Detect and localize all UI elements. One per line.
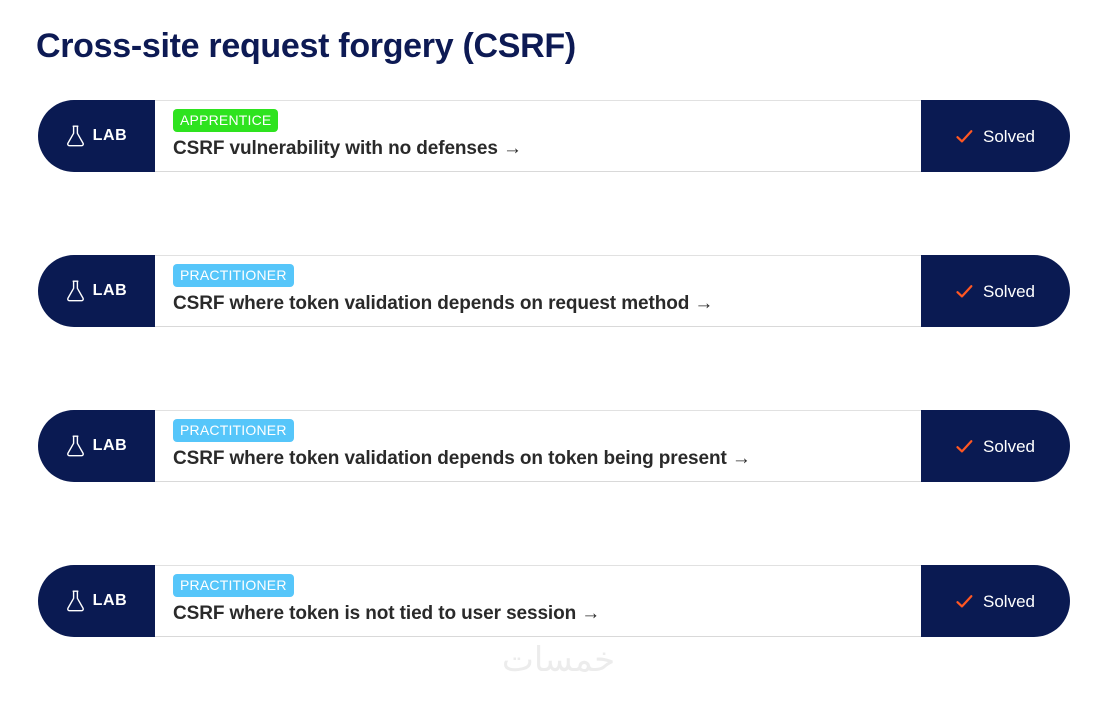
lab-card[interactable]: LAB PRACTITIONER CSRF where token is not… [38,565,1070,637]
difficulty-badge: PRACTITIONER [173,574,294,597]
flask-icon [66,280,85,302]
lab-card[interactable]: LAB APPRENTICE CSRF vulnerability with n… [38,100,1070,172]
lab-status: Solved [921,565,1070,637]
flask-icon [66,435,85,457]
page-title: Cross-site request forgery (CSRF) [36,25,576,67]
difficulty-badge: PRACTITIONER [173,419,294,442]
lab-status: Solved [921,100,1070,172]
difficulty-badge: PRACTITIONER [173,264,294,287]
flask-icon [66,125,85,147]
check-icon [956,284,973,299]
lab-body: PRACTITIONER CSRF where token validation… [155,255,921,327]
check-icon [956,129,973,144]
check-icon [956,439,973,454]
lab-card[interactable]: LAB PRACTITIONER CSRF where token valida… [38,410,1070,482]
check-icon [956,594,973,609]
lab-badge: LAB [38,100,155,172]
lab-card[interactable]: LAB PRACTITIONER CSRF where token valida… [38,255,1070,327]
lab-title-link[interactable]: CSRF where token validation depends on r… [173,292,921,316]
lab-title-link[interactable]: CSRF where token is not tied to user ses… [173,602,921,626]
lab-badge: LAB [38,565,155,637]
lab-badge-label: LAB [93,438,128,454]
watermark: خمسات [0,640,1117,680]
status-label: Solved [983,593,1035,610]
lab-body: APPRENTICE CSRF vulnerability with no de… [155,100,921,172]
flask-icon [66,590,85,612]
lab-badge-label: LAB [93,128,128,144]
difficulty-badge: APPRENTICE [173,109,278,132]
lab-body: PRACTITIONER CSRF where token validation… [155,410,921,482]
lab-title-link[interactable]: CSRF vulnerability with no defenses → [173,137,921,161]
lab-title-link[interactable]: CSRF where token validation depends on t… [173,447,921,471]
status-label: Solved [983,128,1035,145]
lab-status: Solved [921,410,1070,482]
status-label: Solved [983,283,1035,300]
lab-badge-label: LAB [93,283,128,299]
lab-badge: LAB [38,255,155,327]
lab-list: LAB APPRENTICE CSRF vulnerability with n… [38,100,1070,720]
lab-body: PRACTITIONER CSRF where token is not tie… [155,565,921,637]
lab-badge-label: LAB [93,593,128,609]
status-label: Solved [983,438,1035,455]
lab-badge: LAB [38,410,155,482]
lab-status: Solved [921,255,1070,327]
